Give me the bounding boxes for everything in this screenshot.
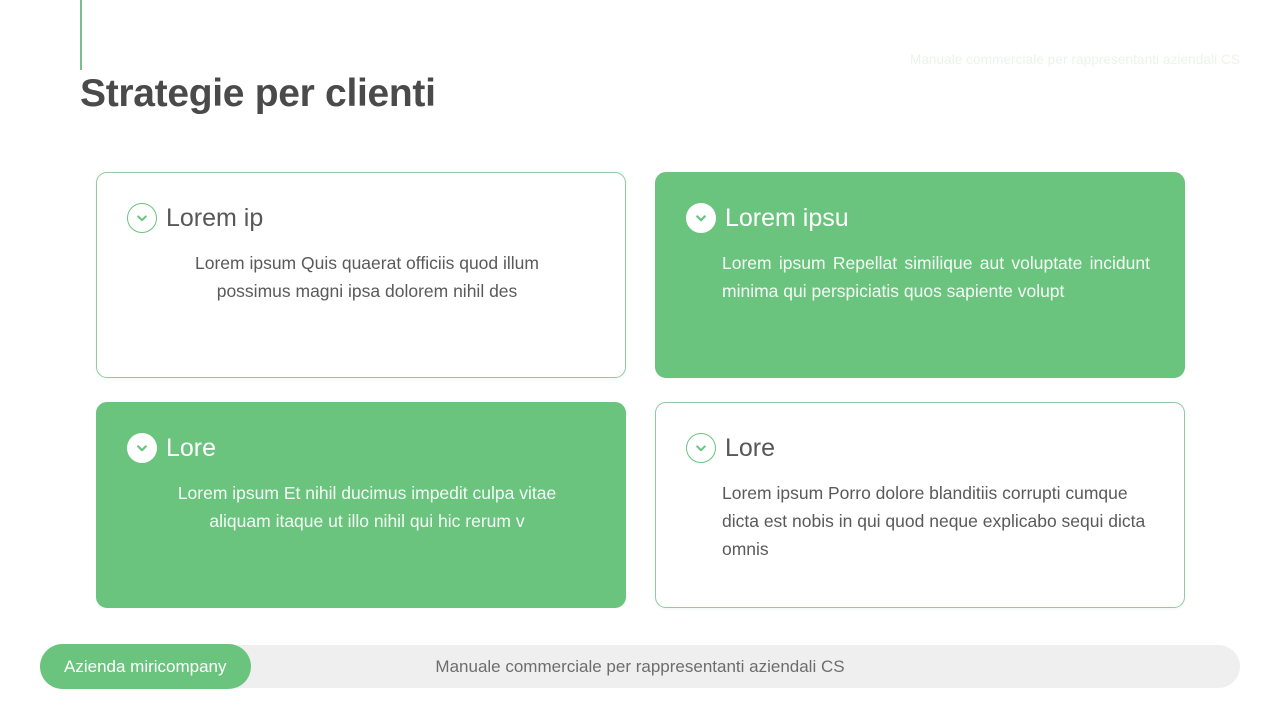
chevron-down-circle-icon[interactable] bbox=[686, 433, 716, 463]
page-title: Strategie per clienti bbox=[80, 70, 436, 119]
card-3[interactable]: Lore Lorem ipsum Et nihil ducimus impedi… bbox=[96, 402, 626, 608]
card-2[interactable]: Lorem ipsu Lorem ipsum Repellat similiqu… bbox=[655, 172, 1185, 378]
footer-company-badge[interactable]: Azienda miricompany bbox=[40, 644, 251, 689]
card-2-header: Lorem ipsu bbox=[686, 203, 1154, 233]
card-2-title: Lorem ipsu bbox=[725, 204, 849, 233]
header-kicker-text: Manuale commerciale per rappresentanti a… bbox=[910, 52, 1240, 67]
card-3-header: Lore bbox=[127, 433, 595, 463]
card-1[interactable]: Lorem ip Lorem ipsum Quis quaerat offici… bbox=[96, 172, 626, 378]
card-4[interactable]: Lore Lorem ipsum Porro dolore blanditiis… bbox=[655, 402, 1185, 608]
card-2-body: Lorem ipsum Repellat similique aut volup… bbox=[686, 249, 1154, 305]
cards-grid: Lorem ip Lorem ipsum Quis quaerat offici… bbox=[96, 172, 1185, 608]
chevron-down-circle-icon[interactable] bbox=[686, 203, 716, 233]
card-4-title: Lore bbox=[725, 434, 775, 463]
chevron-down-circle-icon[interactable] bbox=[127, 203, 157, 233]
chevron-down-circle-icon[interactable] bbox=[127, 433, 157, 463]
card-4-header: Lore bbox=[686, 433, 1154, 463]
slide-canvas: Strategie per clienti Manuale commercial… bbox=[0, 0, 1280, 720]
card-1-body: Lorem ipsum Quis quaerat officiis quod i… bbox=[127, 249, 595, 305]
card-3-title: Lore bbox=[166, 434, 216, 463]
card-3-body: Lorem ipsum Et nihil ducimus impedit cul… bbox=[127, 479, 595, 535]
card-1-title: Lorem ip bbox=[166, 204, 263, 233]
card-4-body: Lorem ipsum Porro dolore blanditiis corr… bbox=[686, 479, 1154, 563]
card-1-header: Lorem ip bbox=[127, 203, 595, 233]
title-accent-line bbox=[80, 0, 82, 70]
